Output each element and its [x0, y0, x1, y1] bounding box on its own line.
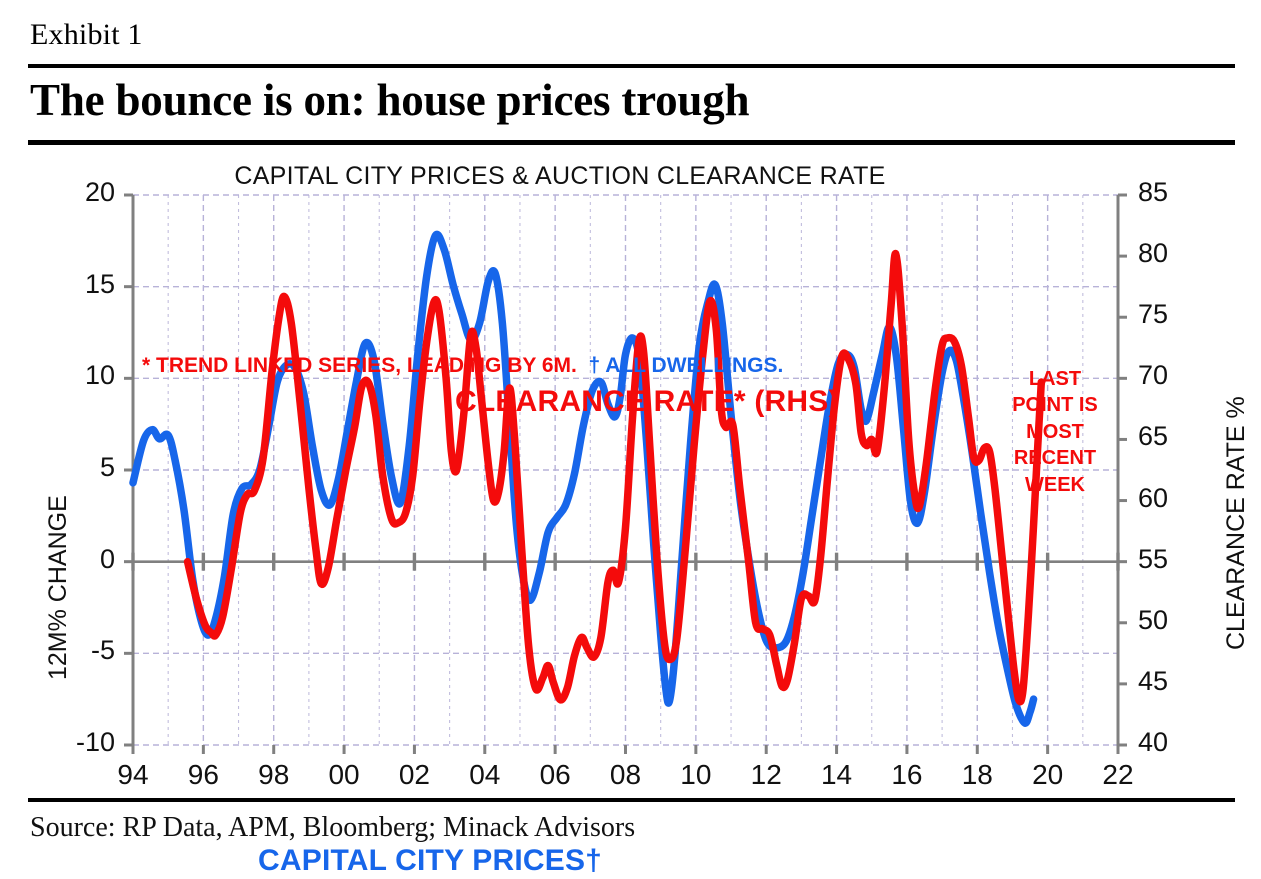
page-title: The bounce is on: house prices trough: [30, 74, 749, 126]
y-axis-tick-right: 80: [1138, 238, 1208, 269]
x-axis-tick: 98: [239, 759, 309, 791]
y-axis-tick-right: 40: [1138, 727, 1208, 758]
y-axis-tick-left: 20: [23, 177, 115, 208]
y-axis-tick-right: 55: [1138, 544, 1208, 575]
series-label-capital-city-prices: CAPITAL CITY PRICES†: [258, 844, 602, 878]
source-note: Source: RP Data, APM, Bloomberg; Minack …: [30, 812, 635, 844]
x-axis-tick: 18: [942, 759, 1012, 791]
y-axis-tick-right: 60: [1138, 483, 1208, 514]
exhibit-label: Exhibit 1: [30, 18, 143, 52]
y-axis-tick-right: 65: [1138, 421, 1208, 452]
chart-footnote: * TREND LINKED SERIES, LEADING BY 6M. † …: [142, 354, 783, 378]
chart-container: CAPITAL CITY PRICES & AUCTION CLEARANCE …: [0, 150, 1261, 795]
y-axis-tick-right: 85: [1138, 177, 1208, 208]
x-axis-tick: 00: [309, 759, 379, 791]
footnote-red-text: * TREND LINKED SERIES, LEADING BY 6M.: [142, 354, 577, 377]
x-axis-tick: 12: [731, 759, 801, 791]
x-axis-tick: 94: [98, 759, 168, 791]
y-axis-title-right: CLEARANCE RATE %: [1222, 396, 1251, 650]
exhibit-page: Exhibit 1 The bounce is on: house prices…: [0, 0, 1261, 879]
x-axis-tick: 02: [379, 759, 449, 791]
y-axis-tick-left: 10: [23, 360, 115, 391]
x-axis-tick: 16: [872, 759, 942, 791]
last-point-callout: LAST POINT IS MOST RECENT WEEK: [1000, 366, 1110, 498]
y-axis-tick-left: 15: [23, 269, 115, 300]
x-axis-tick: 20: [1013, 759, 1083, 791]
series-label-clearance-rate: CLEARANCE RATE* (RHS): [455, 385, 839, 419]
x-axis-tick: 04: [450, 759, 520, 791]
x-axis-tick: 14: [802, 759, 872, 791]
x-axis-tick: 96: [168, 759, 238, 791]
divider-middle: [28, 140, 1235, 145]
y-axis-tick-left: 0: [23, 544, 115, 575]
y-axis-tick-right: 50: [1138, 605, 1208, 636]
y-axis-tick-left: 5: [23, 452, 115, 483]
x-axis-tick: 10: [661, 759, 731, 791]
x-axis-tick: 06: [520, 759, 590, 791]
x-axis-tick: 08: [591, 759, 661, 791]
y-axis-tick-left: -10: [23, 727, 115, 758]
footnote-blue-text: † ALL DWELLINGS.: [589, 354, 784, 377]
divider-top: [28, 64, 1235, 68]
y-axis-tick-right: 70: [1138, 360, 1208, 391]
y-axis-tick-left: -5: [23, 635, 115, 666]
divider-bottom: [28, 798, 1235, 802]
x-axis-tick: 22: [1083, 759, 1153, 791]
y-axis-tick-right: 75: [1138, 299, 1208, 330]
y-axis-tick-right: 45: [1138, 666, 1208, 697]
